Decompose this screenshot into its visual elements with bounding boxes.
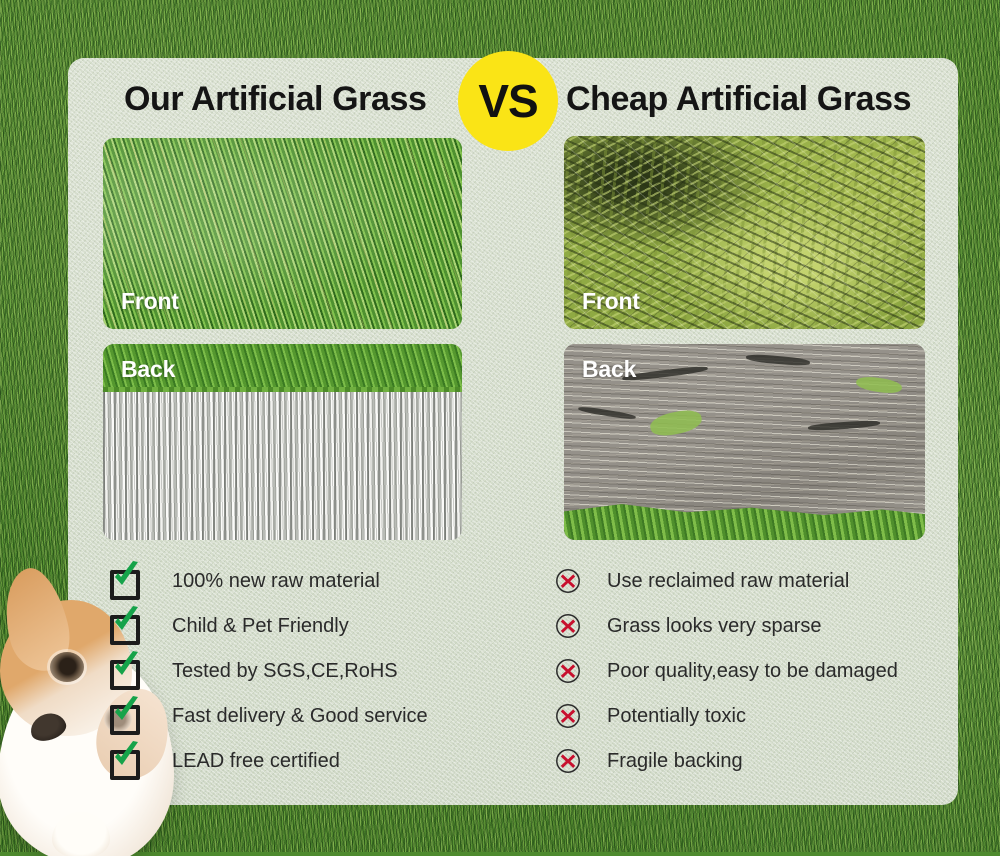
photo-tag-front: Front [582,288,640,315]
check-icon-glyph [112,696,140,726]
our-grass-back-photo: Back [103,344,462,540]
list-item: Poor quality,easy to be damaged [555,648,898,693]
cross-icon-glyph [555,568,581,594]
feature-label: Tested by SGS,CE,RoHS [172,658,398,684]
feature-list-cheap-grass: Use reclaimed raw material Grass looks v… [555,558,898,783]
cross-icon [555,748,581,774]
cheap-grass-front-photo: Front [564,136,925,329]
cross-icon-glyph [555,613,581,639]
list-item: Fast delivery & Good service [110,693,428,738]
cheap-grass-back-photo: Back [564,344,925,540]
feature-label: Grass looks very sparse [607,613,822,639]
list-item: Fragile backing [555,738,898,783]
our-grass-front-photo: Front [103,138,462,329]
feature-label: Fragile backing [607,748,743,774]
feature-label: Child & Pet Friendly [172,613,349,639]
list-item: Potentially toxic [555,693,898,738]
check-icon-glyph [112,651,140,681]
list-item: Child & Pet Friendly [110,603,428,648]
list-item: LEAD free certified [110,738,428,783]
check-icon [110,568,136,594]
photo-tag-back: Back [582,356,636,383]
cross-icon [555,658,581,684]
check-icon-glyph [112,741,140,771]
woven-backing-texture [103,392,462,540]
feature-label: LEAD free certified [172,748,340,774]
vs-badge: VS [458,51,558,151]
feature-list-our-grass: 100% new raw material Child & Pet Friend… [110,558,428,783]
cross-icon-glyph [555,703,581,729]
feature-label: Use reclaimed raw material [607,568,849,594]
feature-label: Fast delivery & Good service [172,703,428,729]
feature-label: Poor quality,easy to be damaged [607,658,898,684]
list-item: Use reclaimed raw material [555,558,898,603]
list-item: Grass looks very sparse [555,603,898,648]
cross-icon-glyph [555,658,581,684]
feature-label: 100% new raw material [172,568,380,594]
dog-eye [50,652,84,682]
feature-label: Potentially toxic [607,703,746,729]
photo-tag-back: Back [121,356,175,383]
cross-icon-glyph [555,748,581,774]
check-icon-glyph [112,561,140,591]
check-icon [110,658,136,684]
heading-cheap-grass: Cheap Artificial Grass [566,76,911,122]
list-item: Tested by SGS,CE,RoHS [110,648,428,693]
check-icon-glyph [112,606,140,636]
photo-tag-front: Front [121,288,179,315]
list-item: 100% new raw material [110,558,428,603]
cross-icon [555,613,581,639]
check-icon [110,613,136,639]
check-icon [110,748,136,774]
cross-icon [555,568,581,594]
heading-our-grass: Our Artificial Grass [124,76,427,122]
cross-icon [555,703,581,729]
check-icon [110,703,136,729]
